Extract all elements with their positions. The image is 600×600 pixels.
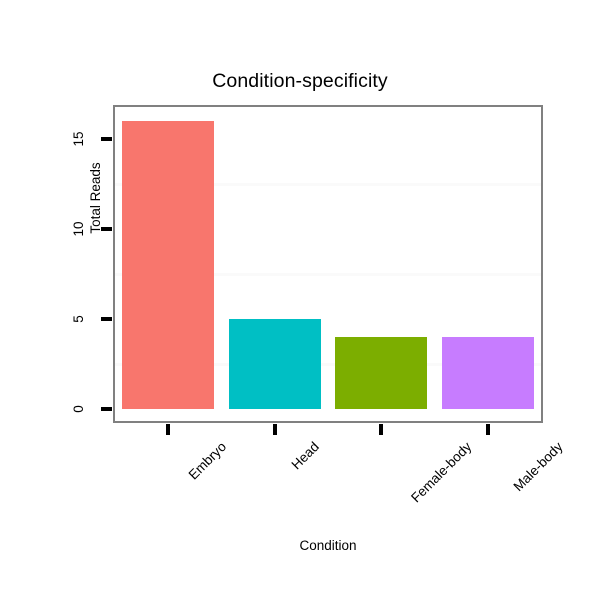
x-tick-label: Female-body (408, 439, 474, 505)
chart-canvas: Condition-specificity 051015 EmbryoHeadF… (0, 0, 600, 600)
bar-male-body (442, 337, 534, 409)
y-tick-label: 5 (72, 299, 86, 339)
y-tick-label: 0 (72, 389, 86, 429)
y-tick-label: 10 (72, 209, 86, 249)
x-tick-mark (486, 424, 490, 435)
bar-embryo (122, 121, 214, 409)
y-axis-title: Total Reads (88, 123, 104, 273)
plot-panel (113, 105, 543, 423)
x-axis-title: Condition (113, 538, 543, 554)
y-tick-label: 15 (72, 119, 86, 159)
chart-title: Condition-specificity (0, 70, 600, 92)
bar-head (229, 319, 321, 409)
x-tick-label: Male-body (510, 439, 565, 494)
x-tick-mark (166, 424, 170, 435)
bar-female-body (335, 337, 427, 409)
x-tick-mark (273, 424, 277, 435)
x-tick-mark (379, 424, 383, 435)
y-tick-mark (101, 317, 112, 321)
y-tick-mark (101, 407, 112, 411)
x-tick-label: Head (288, 439, 321, 472)
plot-area (115, 107, 541, 421)
x-tick-label: Embryo (186, 439, 229, 482)
